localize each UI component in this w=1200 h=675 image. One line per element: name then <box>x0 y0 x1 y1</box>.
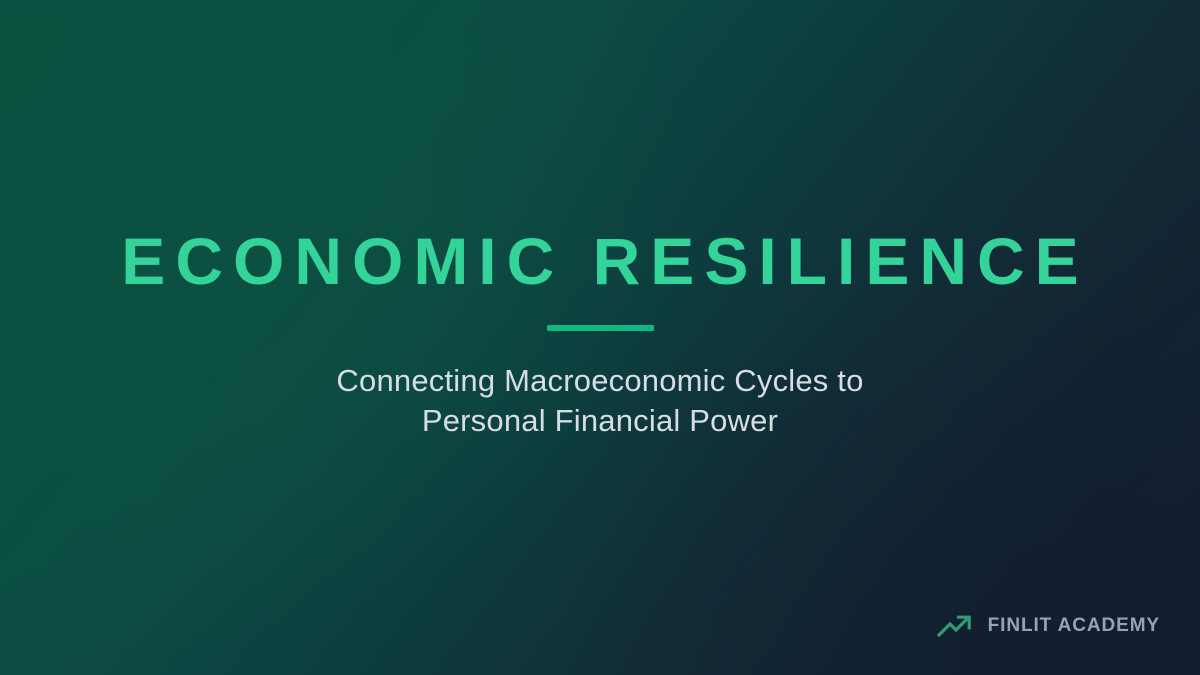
slide-subtitle: Connecting Macroeconomic Cycles to Perso… <box>0 361 1200 440</box>
slide-content: ECONOMIC RESILIENCE Connecting Macroecon… <box>0 228 1200 440</box>
brand-name: FINLIT ACADEMY <box>988 615 1160 637</box>
title-divider <box>547 325 654 331</box>
slide-title: ECONOMIC RESILIENCE <box>0 228 1200 294</box>
brand-logo: FINLIT ACADEMY <box>937 613 1160 639</box>
trending-up-icon <box>937 613 973 639</box>
title-slide: ECONOMIC RESILIENCE Connecting Macroecon… <box>0 0 1200 675</box>
subtitle-line-1: Connecting Macroeconomic Cycles to <box>0 361 1200 401</box>
subtitle-line-2: Personal Financial Power <box>0 401 1200 441</box>
